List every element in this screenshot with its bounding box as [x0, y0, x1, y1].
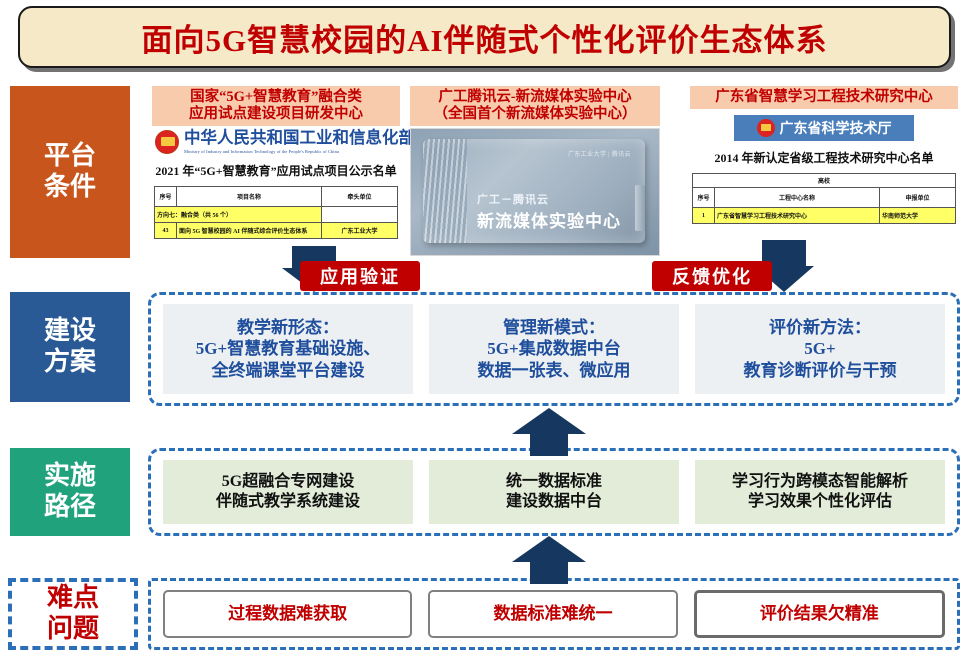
poster-root: 面向5G智慧校园的AI伴随式个性化评价生态体系 平台 条件 建设 方案 实施 路… — [0, 0, 969, 658]
banner-application-verification: 应用验证 — [300, 261, 420, 291]
national-emblem-icon — [757, 119, 775, 137]
rail-platform-conditions: 平台 条件 — [10, 86, 130, 258]
group-label: 方向七：融合类（共 56 个） — [155, 207, 322, 223]
gd-department-band: 广东省科学技术厅 — [734, 115, 914, 141]
path-analysis-line1: 学习行为跨模态智能解析 — [732, 472, 908, 492]
path-cell-data-standard: 统一数据标准 建设数据中台 — [429, 460, 679, 524]
plan-evaluation-line3: 教育诊断评价与干预 — [744, 360, 897, 381]
group-blank — [322, 207, 398, 223]
table-group-header-row: 高校 — [693, 174, 956, 188]
gd-department-name: 广东省科学技术厅 — [780, 118, 892, 138]
gd-doc-title: 2014 年新认定省级工程技术研究中心名单 — [690, 149, 958, 166]
panel-national-pilot: 国家“5G+智慧教育”融合类 应用试点建设项目研发中心 中华人民共和国工业和信息… — [152, 86, 400, 258]
path-network-line1: 5G超融合专网建设 — [216, 472, 360, 492]
hard-standard-label: 数据标准难统一 — [493, 603, 612, 624]
panel-new-media-lab: 广工腾讯云-新流媒体实验中心 （全国首个新流媒体实验中心） 广东工业大学 | 腾… — [410, 86, 660, 258]
panel-guangdong-center: 广东省智慧学习工程技术研究中心 广东省科学技术厅 2014 年新认定省级工程技术… — [690, 86, 958, 258]
plaque-edge-decoration — [635, 185, 645, 231]
arrow-up-icon — [512, 408, 586, 456]
plan-teaching-line2: 5G+智慧教育基础设施、 — [196, 338, 380, 359]
path-cell-row: 5G超融合专网建设 伴随式教学系统建设 统一数据标准 建设数据中台 学习行为跨模… — [151, 451, 957, 533]
plan-evaluation-line2: 5G+ — [744, 338, 897, 359]
banner-feedback-optimization: 反馈优化 — [652, 261, 772, 291]
th-project-name: 项目名称 — [177, 187, 322, 207]
rail-plan-line2: 方案 — [44, 347, 96, 378]
plan-management-line1: 管理新模式： — [478, 317, 631, 338]
page-title: 面向5G智慧校园的AI伴随式个性化评价生态体系 — [141, 15, 827, 60]
cell-index: 1 — [693, 208, 715, 224]
plan-teaching-line3: 全终端课堂平台建设 — [196, 360, 380, 381]
path-analysis-line2: 学习效果个性化评估 — [732, 492, 908, 512]
table-row: 1 广东省智慧学习工程技术研究中心 华南师范大学 — [693, 208, 956, 224]
ministry-masthead: 中华人民共和国工业和信息化部 Ministry of Industry and … — [152, 126, 400, 154]
hard-cell-evaluation-accuracy: 评价结果欠精准 — [694, 590, 945, 638]
rail-construction-plan: 建设 方案 — [10, 292, 130, 402]
table-group-row: 方向七：融合类（共 56 个） — [155, 207, 398, 223]
path-data-line2: 建设数据中台 — [506, 492, 602, 512]
plaque-line1: 广工－腾讯云 — [477, 191, 549, 207]
cell-index: 43 — [155, 223, 177, 239]
section-construction-plan: 教学新形态： 5G+智慧教育基础设施、 全终端课堂平台建设 管理新模式： 5G+… — [148, 292, 960, 406]
th-lead-unit: 牵头单位 — [322, 187, 398, 207]
panel-gd-header-line1: 广东省智慧学习工程技术研究中心 — [692, 89, 956, 106]
plan-teaching-line1: 教学新形态： — [196, 317, 380, 338]
table-row: 43 面向 5G 智慧校园的 AI 伴随式综合评价生态体系 广东工业大学 — [155, 223, 398, 239]
panel-lab-header: 广工腾讯云-新流媒体实验中心 （全国首个新流媒体实验中心） — [410, 86, 660, 126]
rail-hard-line1: 难点 — [47, 583, 99, 614]
ministry-name-en: Ministry of Industry and Information Tec… — [184, 149, 415, 154]
path-cell-analysis: 学习行为跨模态智能解析 学习效果个性化评估 — [695, 460, 945, 524]
plaque-line2: 新流媒体实验中心 — [477, 207, 621, 232]
hard-cell-row: 过程数据难获取 数据标准难统一 评价结果欠精准 — [151, 581, 957, 647]
hard-process-label: 过程数据难获取 — [228, 603, 347, 624]
th-index: 序号 — [693, 188, 715, 208]
plaque-logos-text: 广东工业大学 | 腾讯云 — [568, 149, 631, 158]
gd-group-header: 高校 — [693, 174, 956, 188]
ministry-name-cn: 中华人民共和国工业和信息化部 — [184, 130, 415, 147]
path-cell-network: 5G超融合专网建设 伴随式教学系统建设 — [163, 460, 413, 524]
panel-national-header-line2: 应用试点建设项目研发中心 — [154, 106, 398, 123]
plan-cell-evaluation: 评价新方法： 5G+ 教育诊断评价与干预 — [695, 304, 945, 394]
plan-management-line3: 数据一张表、微应用 — [478, 360, 631, 381]
panel-national-header: 国家“5G+智慧教育”融合类 应用试点建设项目研发中心 — [152, 86, 400, 126]
panel-gd-header: 广东省智慧学习工程技术研究中心 — [690, 86, 958, 109]
national-pilot-table: 序号 项目名称 牵头单位 方向七：融合类（共 56 个） 43 面向 5G 智慧… — [154, 186, 398, 239]
panel-lab-header-line1: 广工腾讯云-新流媒体实验中心 — [412, 89, 658, 106]
rail-path-line2: 路径 — [44, 492, 96, 523]
cell-lead-unit: 广东工业大学 — [322, 223, 398, 239]
path-data-line1: 统一数据标准 — [506, 472, 602, 492]
cell-project-name: 面向 5G 智慧校园的 AI 伴随式综合评价生态体系 — [177, 223, 322, 239]
th-center-name: 工程中心名称 — [715, 188, 880, 208]
cell-apply-unit: 华南师范大学 — [880, 208, 956, 224]
section-implementation-path: 5G超融合专网建设 伴随式教学系统建设 统一数据标准 建设数据中台 学习行为跨模… — [148, 448, 960, 536]
rail-implementation-path: 实施 路径 — [10, 448, 130, 536]
rail-plan-line1: 建设 — [44, 316, 96, 347]
plan-cell-teaching: 教学新形态： 5G+智慧教育基础设施、 全终端课堂平台建设 — [163, 304, 413, 394]
plan-management-line2: 5G+集成数据中台 — [478, 338, 631, 359]
banner-feedback-label: 反馈优化 — [672, 263, 752, 289]
plan-evaluation-line1: 评价新方法： — [744, 317, 897, 338]
plan-cell-row: 教学新形态： 5G+智慧教育基础设施、 全终端课堂平台建设 管理新模式： 5G+… — [151, 295, 957, 403]
plaque-ripple-decoration — [423, 139, 467, 243]
panel-lab-header-line2: （全国首个新流媒体实验中心） — [412, 106, 658, 123]
lab-plaque-photo: 广东工业大学 | 腾讯云 广工－腾讯云 新流媒体实验中心 — [410, 128, 660, 256]
banner-apply-label: 应用验证 — [320, 263, 400, 289]
hard-accuracy-label: 评价结果欠精准 — [760, 603, 879, 624]
plaque: 广东工业大学 | 腾讯云 广工－腾讯云 新流媒体实验中心 — [423, 139, 645, 243]
cell-center-name: 广东省智慧学习工程技术研究中心 — [715, 208, 880, 224]
arrow-up-icon — [512, 536, 586, 584]
th-index: 序号 — [155, 187, 177, 207]
rail-path-line1: 实施 — [44, 461, 96, 492]
panel-national-header-line1: 国家“5G+智慧教育”融合类 — [154, 89, 398, 106]
th-apply-unit: 申报单位 — [880, 188, 956, 208]
section-difficult-problems: 过程数据难获取 数据标准难统一 评价结果欠精准 — [148, 578, 960, 650]
rail-platform-line1: 平台 — [44, 141, 96, 172]
poster-title-bar: 面向5G智慧校园的AI伴随式个性化评价生态体系 — [18, 6, 951, 68]
hard-cell-data-standard: 数据标准难统一 — [428, 590, 677, 638]
national-emblem-icon — [155, 130, 179, 154]
plan-cell-management: 管理新模式： 5G+集成数据中台 数据一张表、微应用 — [429, 304, 679, 394]
hard-cell-process-data: 过程数据难获取 — [163, 590, 412, 638]
table-header-row: 序号 工程中心名称 申报单位 — [693, 188, 956, 208]
rail-hard-line2: 问题 — [47, 614, 99, 645]
rail-difficult-problems: 难点 问题 — [8, 578, 138, 650]
gd-center-table: 高校 序号 工程中心名称 申报单位 1 广东省智慧学习工程技术研究中心 华南师范… — [692, 173, 956, 224]
national-doc-title: 2021 年“5G+智慧教育”应用试点项目公示名单 — [152, 162, 400, 179]
table-header-row: 序号 项目名称 牵头单位 — [155, 187, 398, 207]
rail-platform-line2: 条件 — [44, 172, 96, 203]
path-network-line2: 伴随式教学系统建设 — [216, 492, 360, 512]
